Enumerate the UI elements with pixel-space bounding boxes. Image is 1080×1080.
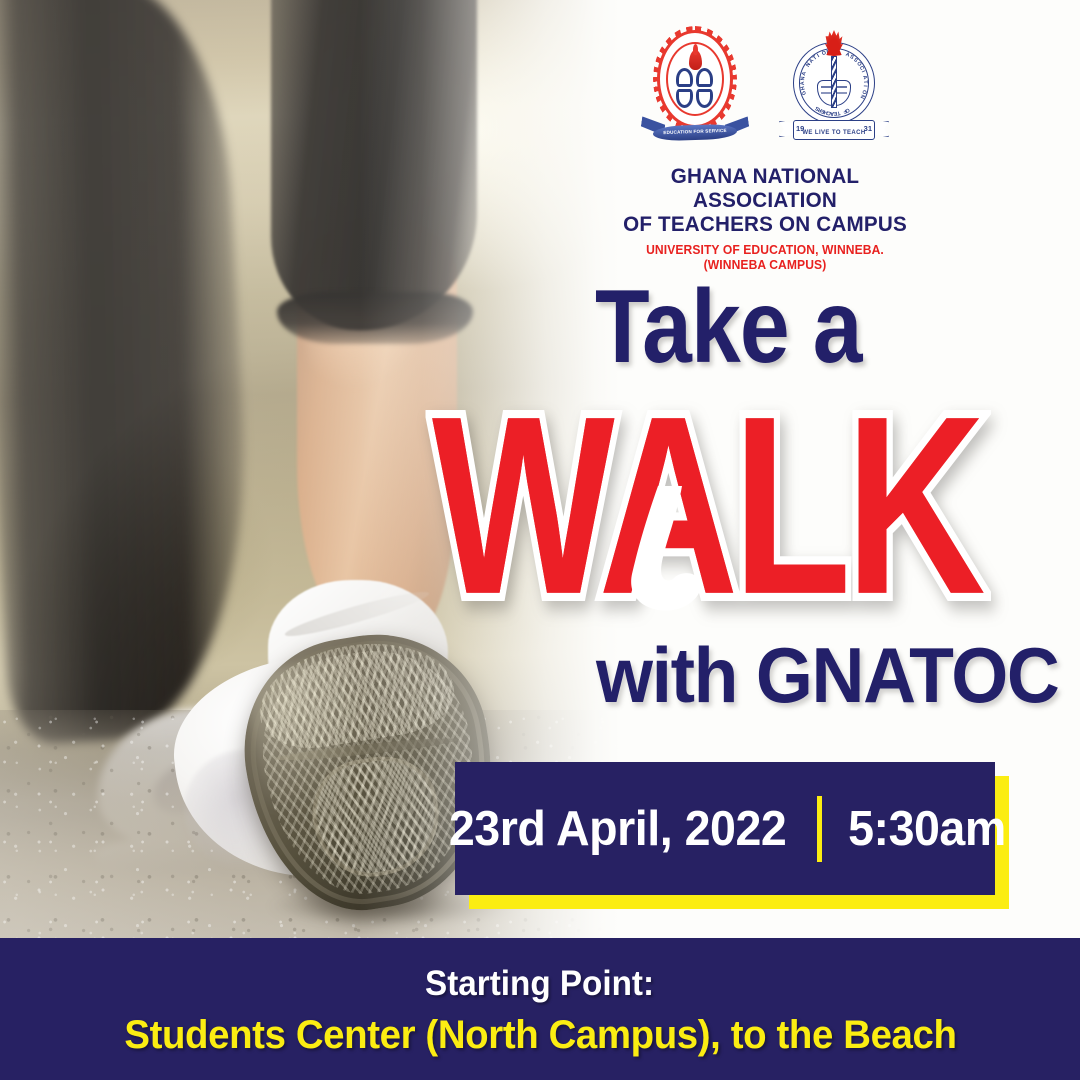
adinkra-lobe [696,89,713,108]
campus-line-1: UNIVERSITY OF EDUCATION, WINNEBA. [607,243,924,258]
starting-point-label: Starting Point: [425,964,654,1004]
legging-cuff [277,292,473,344]
adinkra-lobe [676,89,693,108]
organisation-line-2: OF TEACHERS ON CAMPUS [607,212,924,236]
gnat-motto-text: WE LIVE TO TEACH [793,130,875,136]
gnat-crest-logo: GHANA NATIONAL ASSOCIATION OF TEACHERS 1… [777,24,889,154]
datetime-divider [817,796,822,862]
torch-handle [831,56,837,108]
headline-with-gnatoc: with GNATOC [596,636,1000,714]
outsole-highlight [243,654,385,821]
uew-flame-icon [689,50,702,70]
event-time: 5:30am [848,801,1006,857]
banner-navy-box: 23rd April, 2022 5:30am [455,762,995,895]
uew-crest-logo: EDUCATION FOR SERVICE [641,24,749,154]
poster-canvas: EDUCATION FOR SERVICE GHANA NATIONAL ASS… [0,0,1080,1080]
gnat-torch-icon [827,34,841,110]
uew-adinkra-icon [675,68,717,112]
starting-point-banner: Starting Point: Students Center (North C… [0,938,1080,1080]
black-legging [271,0,477,330]
organisation-name: GHANA NATIONAL ASSOCIATION OF TEACHERS O… [607,164,924,236]
adinkra-lobe [696,68,713,87]
uew-ribbon-banner: EDUCATION FOR SERVICE [641,118,749,148]
logo-row: EDUCATION FOR SERVICE GHANA NATIONAL ASS… [600,22,930,154]
organisation-line-1: GHANA NATIONAL ASSOCIATION [607,164,924,212]
headline-walk-block: WALK WALK [432,378,1032,628]
shoe-silhouette-icon [628,486,714,614]
starting-point-location: Students Center (North Campus), to the B… [124,1013,956,1058]
adinkra-lobe [676,68,693,87]
header-block: EDUCATION FOR SERVICE GHANA NATIONAL ASS… [600,22,930,273]
event-date: 23rd April, 2022 [449,801,786,857]
gnat-ribbon-banner: 19 31 WE LIVE TO TEACH [779,116,889,148]
event-datetime-banner: 23rd April, 2022 5:30am [455,762,995,895]
